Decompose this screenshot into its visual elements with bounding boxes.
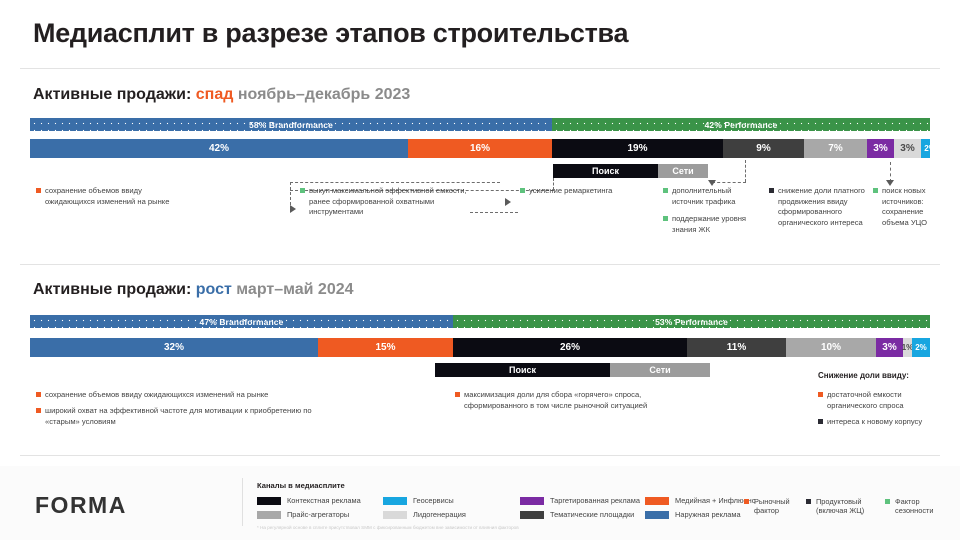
legend-label: Прайс-агрегаторы [287, 510, 349, 519]
legend-item-channel: Тематические площадки [520, 510, 634, 519]
connector-line-8 [890, 162, 891, 182]
subband-search-decline: Поиск [553, 164, 658, 178]
legend-item-factor: Рыночный фактор [744, 497, 804, 515]
band-segment-decline-0: 58% Brandformance [30, 118, 552, 131]
note-text: достаточной емкости органического спроса [818, 390, 936, 411]
footer-divider [242, 478, 243, 526]
subband-search-growth: Поиск [435, 363, 610, 377]
subband-decline: Поиск Сети [553, 164, 708, 178]
page-title: Медиасплит в разрезе этапов строительств… [33, 18, 628, 49]
legend-swatch-icon [645, 497, 669, 505]
note-decline-7: поиск новых источников: сохранение объем… [873, 186, 943, 228]
section-title-period: март–май 2024 [236, 281, 353, 298]
note-bullet-icon [818, 419, 823, 424]
connector-arrow-1 [290, 205, 296, 213]
bar-segment-decline-3: 9% [723, 139, 804, 158]
slide-root: Медиасплит в разрезе этапов строительств… [0, 0, 960, 540]
legend-swatch-icon [383, 497, 407, 505]
header-divider [20, 68, 940, 69]
legend-label: Фактор сезонности [895, 497, 945, 515]
note-growth-right-1: достаточной емкости органического спроса [818, 390, 936, 411]
bar-segment-decline-5: 3% [867, 139, 894, 158]
bar-segment-decline-0: 42% [30, 139, 408, 158]
footnote: * На регулярной основе в сплите присутст… [257, 525, 519, 530]
note-text: выкуп максимальной эффективной емкости, … [300, 186, 468, 218]
note-bullet-icon [36, 408, 41, 413]
section-title-main: Активные продажи: [33, 86, 191, 103]
section-title-accent: рост [196, 281, 232, 298]
bar-segment-growth-4: 10% [786, 338, 876, 357]
note-bullet-icon [36, 188, 41, 193]
legend-label: Геосервисы [413, 496, 454, 505]
bar-segment-decline-4: 7% [804, 139, 867, 158]
note-text: поддержание уровня знания ЖК [663, 214, 758, 235]
subband-networks-decline: Сети [658, 164, 708, 178]
legend-item-channel: Контекстная реклама [257, 496, 361, 505]
note-bullet-icon [663, 216, 668, 221]
section-title-main: Активные продажи: [33, 281, 191, 298]
note-bullet-icon [663, 188, 668, 193]
notes-right-heading: Снижение доли ввиду: [818, 371, 909, 380]
note-bullet-icon [873, 188, 878, 193]
section-divider-2 [20, 455, 940, 456]
bar-segment-growth-7: 2% [912, 338, 930, 357]
legend-item-factor: Продуктовый (включая ЖЦ) [806, 497, 872, 515]
band-growth: 47% Brandformance53% Performance [30, 315, 930, 328]
section-divider-1 [20, 264, 940, 265]
legend-swatch-icon [645, 511, 669, 519]
note-growth-right-2: интереса к новому корпусу [818, 417, 928, 428]
note-text: интереса к новому корпусу [818, 417, 928, 428]
note-bullet-icon [300, 188, 305, 193]
footer: FORMA Каналы в медиасплите Контекстная р… [0, 466, 960, 540]
stacked-bar-growth: 32%15%26%11%10%3%1%2% [30, 338, 930, 357]
bar-segment-decline-2: 19% [552, 139, 723, 158]
legend-label: Таргетированная реклама [550, 496, 640, 505]
note-bullet-icon [36, 392, 41, 397]
bar-segment-growth-6: 1% [903, 338, 912, 357]
note-decline-3: усиление ремаркетинга [520, 186, 620, 197]
legend-label: Наружная реклама [675, 510, 741, 519]
note-growth-2: широкий охват на эффективной частоте для… [36, 406, 326, 427]
legend-item-channel: Таргетированная реклама [520, 496, 640, 505]
legend-item-channel: Лидогенерация [383, 510, 466, 519]
note-text: дополнительный источник трафика [663, 186, 758, 207]
legend-item-channel: Медийная + Инфлюенс [645, 496, 755, 505]
note-text: широкий охват на эффективной частоте для… [36, 406, 326, 427]
bar-segment-decline-1: 16% [408, 139, 552, 158]
subband-growth: Поиск Сети [435, 363, 710, 377]
connector-line-6 [745, 160, 746, 182]
bar-segment-decline-7: 2% [921, 139, 930, 158]
legend-title: Каналы в медиасплите [257, 481, 345, 490]
legend-label: Лидогенерация [413, 510, 466, 519]
legend-swatch-icon [885, 499, 890, 504]
bar-segment-growth-1: 15% [318, 338, 453, 357]
connector-line-1 [290, 182, 500, 183]
note-bullet-icon [818, 392, 823, 397]
legend-label: Продуктовый (включая ЖЦ) [816, 497, 872, 515]
connector-arrow-2 [505, 198, 511, 206]
section-title-period: ноябрь–декабрь 2023 [238, 86, 410, 103]
stacked-bar-decline: 42%16%19%9%7%3%3%2% [30, 139, 930, 158]
legend-label: Контекстная реклама [287, 496, 361, 505]
section-title-accent: спад [196, 86, 234, 103]
note-growth-1: сохранение объемов ввиду ожидающихся изм… [36, 390, 346, 401]
note-decline-6: снижение доли платного продвижения ввиду… [769, 186, 867, 228]
note-bullet-icon [520, 188, 525, 193]
note-decline-2: выкуп максимальной эффективной емкости, … [300, 186, 468, 218]
bar-segment-decline-6: 3% [894, 139, 921, 158]
note-text: усиление ремаркетинга [520, 186, 620, 197]
legend-swatch-icon [520, 511, 544, 519]
band-segment-decline-1: 42% Performance [552, 118, 930, 131]
legend-label: Рыночный фактор [754, 497, 804, 515]
legend-swatch-icon [744, 499, 749, 504]
legend-swatch-icon [806, 499, 811, 504]
note-bullet-icon [769, 188, 774, 193]
legend-label: Тематические площадки [550, 510, 634, 519]
legend-swatch-icon [383, 511, 407, 519]
bar-segment-growth-2: 26% [453, 338, 687, 357]
subband-networks-growth: Сети [610, 363, 710, 377]
note-decline-5: поддержание уровня знания ЖК [663, 214, 758, 235]
section-title-decline: Активные продажи: спад ноябрь–декабрь 20… [33, 86, 410, 104]
legend-swatch-icon [520, 497, 544, 505]
connector-line-7 [712, 182, 746, 183]
note-text: поиск новых источников: сохранение объем… [873, 186, 943, 228]
forma-logo: FORMA [35, 492, 127, 519]
band-segment-growth-1: 53% Performance [453, 315, 930, 328]
note-text: сохранение объемов ввиду ожидающихся изм… [36, 186, 176, 207]
section-title-growth: Активные продажи: рост март–май 2024 [33, 281, 354, 299]
legend-swatch-icon [257, 497, 281, 505]
note-decline-1: сохранение объемов ввиду ожидающихся изм… [36, 186, 176, 207]
bar-segment-growth-0: 32% [30, 338, 318, 357]
legend-swatch-icon [257, 511, 281, 519]
legend-item-channel: Наружная реклама [645, 510, 741, 519]
note-bullet-icon [455, 392, 460, 397]
band-segment-growth-0: 47% Brandformance [30, 315, 453, 328]
note-text: снижение доли платного продвижения ввиду… [769, 186, 867, 228]
band-decline: 58% Brandformance42% Performance [30, 118, 930, 131]
note-text: максимизация доли для сбора «горячего» с… [455, 390, 655, 411]
legend-item-channel: Геосервисы [383, 496, 454, 505]
legend-item-factor: Фактор сезонности [885, 497, 945, 515]
bar-segment-growth-3: 11% [687, 338, 786, 357]
legend-item-channel: Прайс-агрегаторы [257, 510, 349, 519]
bar-segment-growth-5: 3% [876, 338, 903, 357]
note-text: сохранение объемов ввиду ожидающихся изм… [36, 390, 346, 401]
connector-line-3 [470, 212, 518, 213]
note-decline-4: дополнительный источник трафика [663, 186, 758, 207]
note-growth-3: максимизация доли для сбора «горячего» с… [455, 390, 655, 411]
